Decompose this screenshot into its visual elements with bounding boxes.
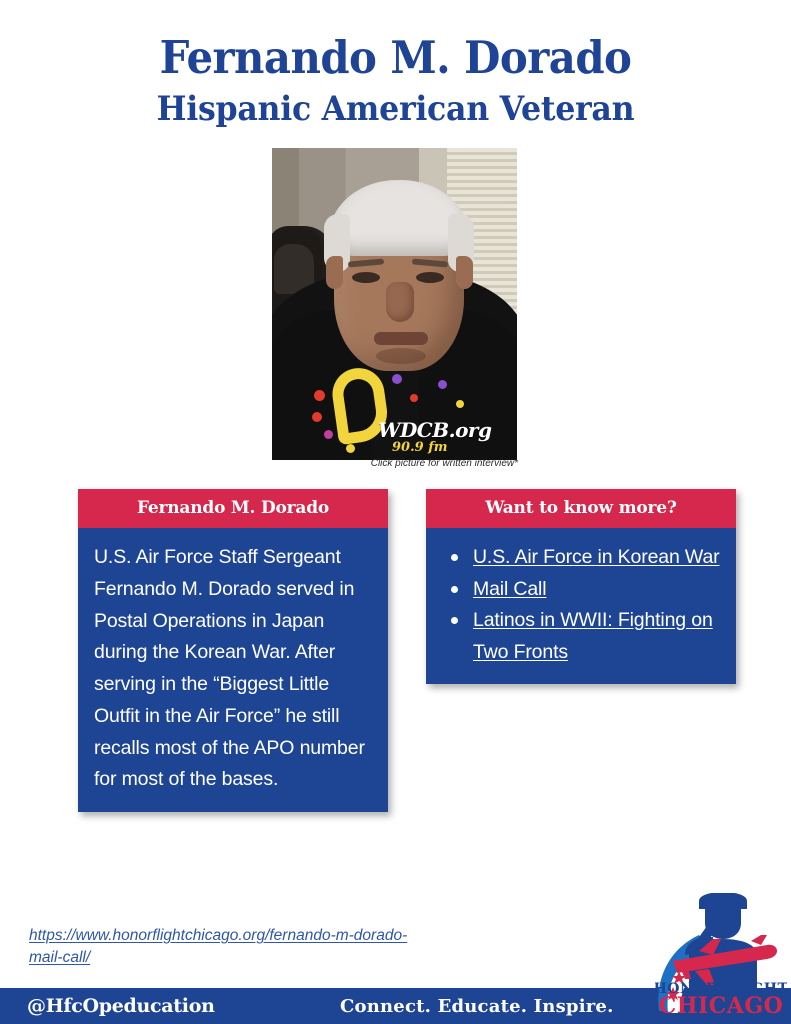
link-latinos-in-wwii[interactable]: Latinos in WWII: Fighting on Two Fronts [473, 609, 713, 663]
confetti-dot [324, 430, 333, 439]
veteran-photo[interactable]: WDCB.org 90.9 fm [272, 148, 517, 460]
logo-graphic: HONOR FLIGHT CHICAGO [655, 893, 787, 1019]
veteran-profile-page: Fernando M. Dorado Hispanic American Vet… [0, 0, 791, 1024]
confetti-dot [392, 374, 402, 384]
eye-left [352, 272, 380, 283]
shirt-graphic: WDCB.org 90.9 fm [306, 364, 486, 456]
link-mail-call[interactable]: Mail Call [473, 578, 546, 600]
shirt-brand-text: WDCB.org [378, 418, 491, 442]
page-title: Fernando M. Dorado [28, 34, 764, 83]
page-title-block: Fernando M. Dorado Hispanic American Vet… [0, 34, 791, 129]
list-item[interactable]: Latinos in WWII: Fighting on Two Fronts [442, 605, 720, 668]
photo-caption: Click picture for written interview* [272, 458, 518, 469]
bio-text: U.S. Air Force Staff Sergeant Fernando M… [94, 542, 372, 796]
chin-shadow [376, 348, 426, 364]
resource-links-list: U.S. Air Force in Korean War Mail Call L… [442, 542, 720, 668]
link-us-air-force-in-korean-war[interactable]: U.S. Air Force in Korean War [473, 546, 720, 568]
bio-card: Fernando M. Dorado U.S. Air Force Staff … [78, 489, 388, 812]
eye-right [416, 272, 444, 283]
shirt-frequency-text: 90.9 fm [392, 440, 448, 455]
links-card-body: U.S. Air Force in Korean War Mail Call L… [426, 528, 736, 684]
list-item[interactable]: U.S. Air Force in Korean War [442, 542, 720, 574]
bio-card-body: U.S. Air Force Staff Sergeant Fernando M… [78, 528, 388, 812]
honor-flight-chicago-logo[interactable]: HONOR FLIGHT CHICAGO [655, 893, 787, 1019]
ear-left [326, 256, 343, 289]
photo-background: WDCB.org 90.9 fm [272, 148, 517, 460]
footer-tagline: Connect. Educate. Inspire. [340, 996, 614, 1017]
list-item[interactable]: Mail Call [442, 574, 720, 606]
mouth [374, 332, 428, 345]
confetti-dot [456, 400, 464, 408]
links-card: Want to know more? U.S. Air Force in Kor… [426, 489, 736, 684]
confetti-dot [438, 380, 447, 389]
logo-line2: CHICAGO [659, 993, 784, 1019]
links-card-header: Want to know more? [426, 489, 736, 528]
confetti-dot [312, 412, 322, 422]
confetti-dot [314, 390, 325, 401]
footer-social-handle[interactable]: @HfcOpeducation [27, 995, 215, 1017]
ear-right [456, 256, 473, 289]
confetti-dot [410, 394, 418, 402]
confetti-dot [346, 444, 355, 453]
nose [386, 282, 414, 322]
bio-card-header: Fernando M. Dorado [78, 489, 388, 528]
page-subtitle: Hispanic American Veteran [28, 90, 764, 129]
source-url-link[interactable]: https://www.honorflightchicago.org/ferna… [29, 925, 409, 970]
